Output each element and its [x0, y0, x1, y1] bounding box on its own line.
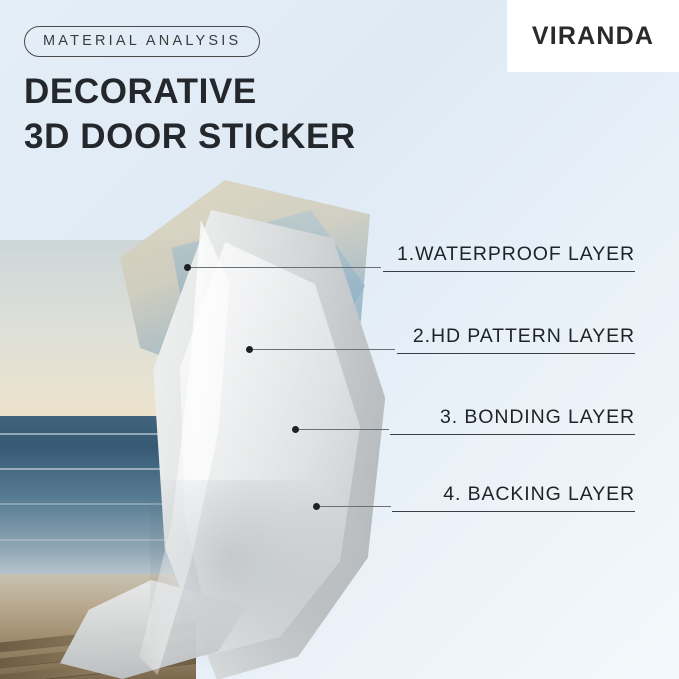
callout-line-1	[191, 267, 381, 268]
product-infographic: VIRANDA MATERIAL ANALYSIS DECORATIVE 3D …	[0, 0, 679, 679]
brand-panel: VIRANDA	[507, 0, 679, 72]
layer-label-backing: 4. BACKING LAYER	[392, 483, 635, 512]
callout-dot-3	[292, 426, 299, 433]
callout-dot-1	[184, 264, 191, 271]
callout-line-4	[320, 506, 391, 507]
callout-dot-4	[313, 503, 320, 510]
layer-label-bonding: 3. BONDING LAYER	[390, 406, 635, 435]
layer-label-waterproof: 1.WATERPROOF LAYER	[383, 243, 635, 272]
drop-shadow	[150, 480, 350, 679]
page-title: DECORATIVE 3D DOOR STICKER	[24, 70, 356, 160]
eyebrow-badge: MATERIAL ANALYSIS	[24, 26, 260, 57]
callout-dot-2	[246, 346, 253, 353]
layer-label-hd-pattern: 2.HD PATTERN LAYER	[397, 325, 635, 354]
page-title-line-2: 3D DOOR STICKER	[24, 115, 356, 160]
callout-line-2	[253, 349, 395, 350]
brand-name: VIRANDA	[532, 22, 654, 51]
page-title-line-1: DECORATIVE	[24, 72, 257, 111]
callout-line-3	[299, 429, 389, 430]
